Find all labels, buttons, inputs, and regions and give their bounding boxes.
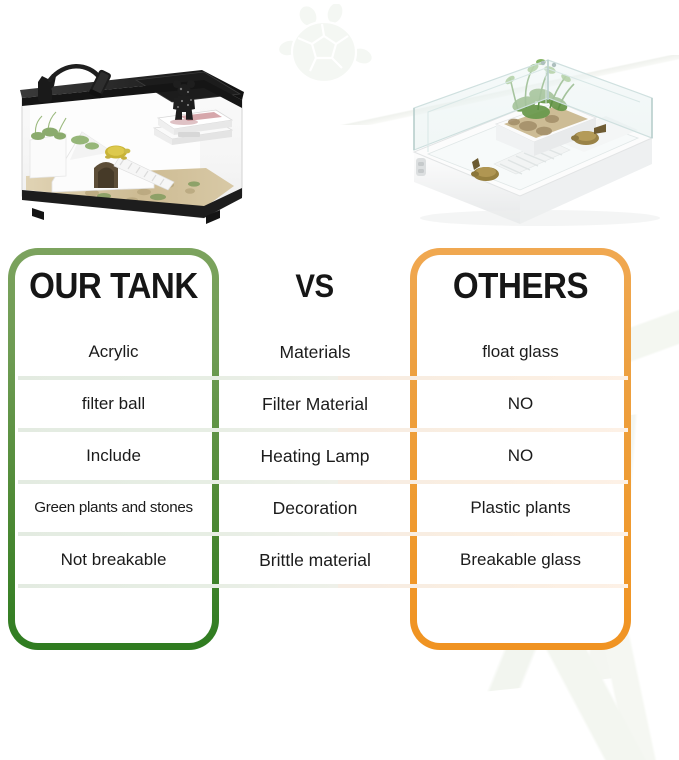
comparison-header-row: OUR TANK VS OTHERS: [0, 248, 679, 326]
cell-our-tank: Acrylic: [8, 326, 219, 378]
cell-others: Plastic plants: [410, 482, 631, 534]
cell-our-tank: Green plants and stones: [8, 482, 219, 534]
cell-feature: Materials: [222, 326, 408, 378]
table-row: Include Heating Lamp NO: [0, 430, 679, 482]
turtle-watermark: [278, 4, 376, 94]
cell-our-tank: Include: [8, 430, 219, 482]
cell-others: NO: [410, 378, 631, 430]
cell-feature: Filter Material: [222, 378, 408, 430]
product-photo-our-tank: [8, 36, 258, 226]
column-header-others: OTHERS: [419, 264, 622, 308]
column-header-our-tank: OUR TANK: [16, 264, 210, 308]
table-row: Not breakable Brittle material Breakable…: [0, 534, 679, 586]
cell-feature: Brittle material: [222, 534, 408, 586]
table-row: Green plants and stones Decoration Plast…: [0, 482, 679, 534]
row-divider: [0, 584, 679, 588]
comparison-table: OUR TANK VS OTHERS Acrylic Materials flo…: [0, 248, 679, 650]
cell-feature: Decoration: [222, 482, 408, 534]
cell-others: NO: [410, 430, 631, 482]
cell-others: Breakable glass: [410, 534, 631, 586]
table-row: filter ball Filter Material NO: [0, 378, 679, 430]
product-photo-others-tank: [400, 46, 672, 226]
cell-our-tank: Not breakable: [8, 534, 219, 586]
cell-others: float glass: [410, 326, 631, 378]
column-header-vs: VS: [232, 264, 397, 308]
cell-feature: Heating Lamp: [222, 430, 408, 482]
table-row: Acrylic Materials float glass: [0, 326, 679, 378]
cell-our-tank: filter ball: [8, 378, 219, 430]
